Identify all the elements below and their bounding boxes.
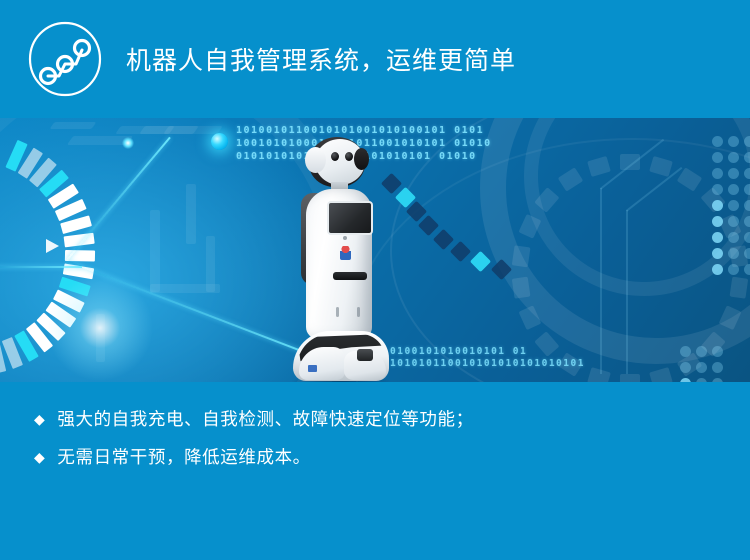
- robot-eye-left: [331, 152, 339, 161]
- list-item: ◆ 强大的自我充电、自我检测、故障快速定位等功能；: [34, 404, 750, 434]
- robot-vent: [336, 307, 339, 317]
- binary-line: 101010110010101010101010101: [390, 358, 585, 370]
- network-node: [211, 133, 228, 150]
- gauge-pointer-icon: [46, 239, 59, 253]
- robot-screen: [327, 201, 373, 235]
- diamond-chip: [418, 215, 439, 236]
- diamond-bullet-icon: ◆: [34, 404, 45, 434]
- diamond-chip: [433, 229, 454, 250]
- robot-ear-right: [354, 148, 369, 170]
- page-header: 机器人自我管理系统，运维更简单: [0, 0, 750, 118]
- hero-image: 1010010110010101001010100101 01011001010…: [0, 118, 750, 382]
- connection-beam: [0, 266, 82, 268]
- glow-spark-icon: [122, 137, 134, 149]
- binary-line: 0100101010010101 01: [390, 346, 585, 358]
- robot-chest-logo: [340, 246, 351, 260]
- diamond-chip: [470, 251, 491, 272]
- diamond-chip: [450, 241, 471, 262]
- page-title: 机器人自我管理系统，运维更简单: [126, 41, 516, 77]
- robot-illustration: [281, 135, 399, 382]
- feature-bullet-list: ◆ 强大的自我充电、自我检测、故障快速定位等功能； ◆ 无需日常干预，降低运维成…: [0, 382, 750, 560]
- diamond-chip: [491, 259, 512, 280]
- robot-wheel: [357, 349, 373, 361]
- list-item-label: 无需日常干预，降低运维成本。: [57, 442, 310, 472]
- binary-digits-bottom: 0100101010010101 01101010110010101010101…: [390, 346, 585, 370]
- robot-ear-left: [305, 147, 326, 173]
- list-item-label: 强大的自我充电、自我检测、故障快速定位等功能；: [57, 404, 473, 434]
- list-item: ◆ 无需日常干预，降低运维成本。: [34, 442, 750, 472]
- robot-base-logo: [308, 365, 317, 372]
- robot-card-slot: [333, 272, 367, 280]
- diamond-bullet-icon: ◆: [34, 442, 45, 472]
- promo-banner-page: 机器人自我管理系统，运维更简单: [0, 0, 750, 560]
- robot-sensor-dot: [343, 236, 347, 240]
- robot-vent: [357, 307, 360, 317]
- network-nodes-icon: [26, 20, 104, 98]
- robot-eye-right: [345, 152, 353, 161]
